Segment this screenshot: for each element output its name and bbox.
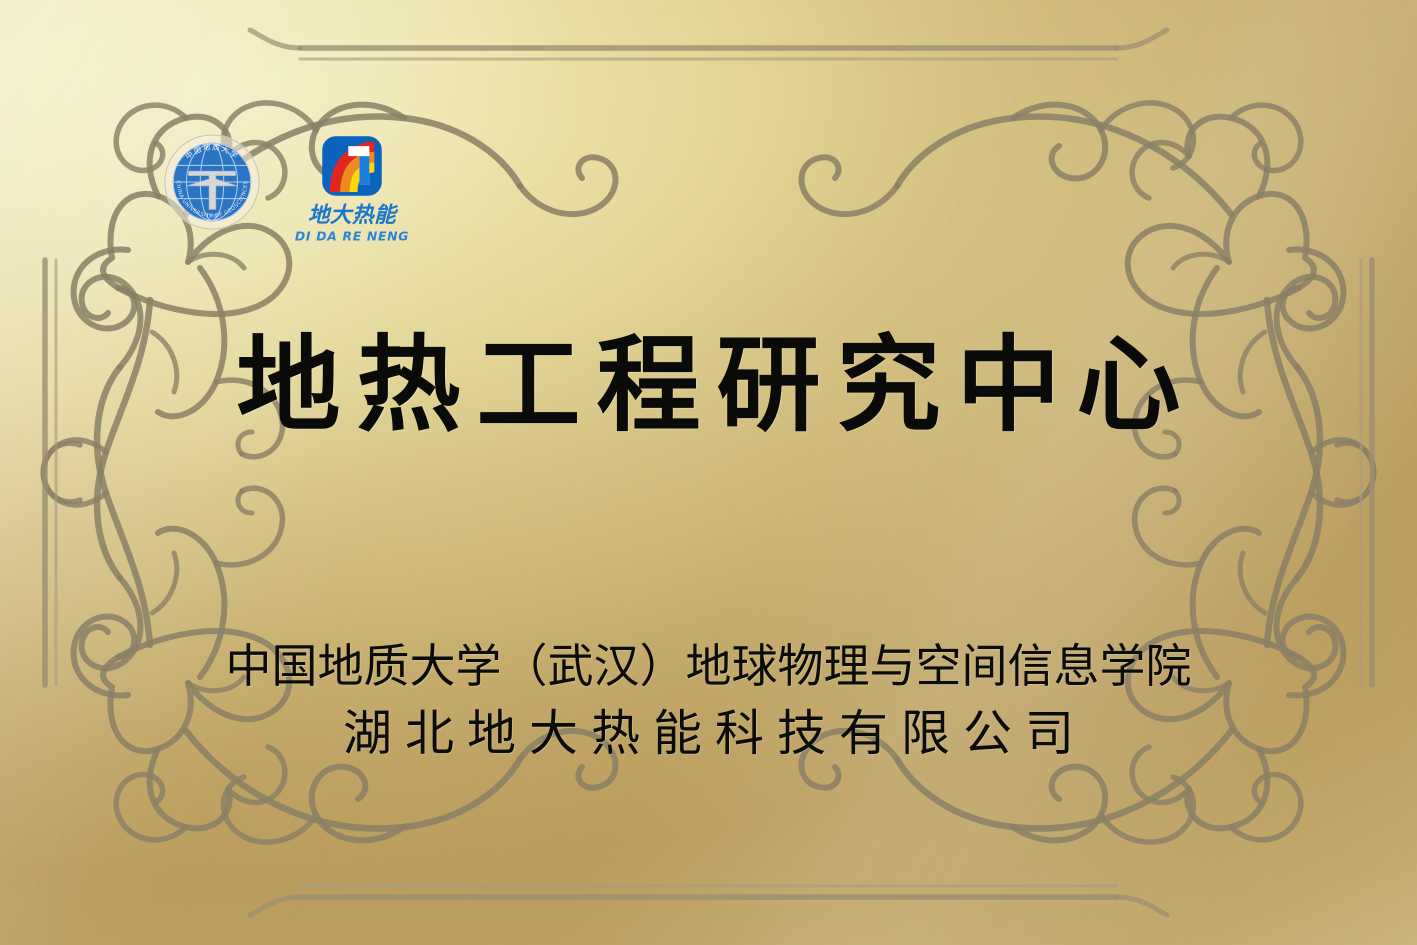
logo-group: 中国地质大学 CHINA UNIVERSITY OF GEOSCIENCES 1… — [163, 133, 421, 246]
subtitle-line-university: 中国地质大学（武汉）地球物理与空间信息学院 — [0, 638, 1417, 694]
didareneng-wordmark: 地大热能 DI DA RE NENG — [283, 198, 421, 246]
didareneng-mark-icon — [321, 135, 383, 197]
svg-text:1952: 1952 — [206, 213, 218, 219]
didareneng-logo: 地大热能 DI DA RE NENG — [283, 135, 421, 246]
subtitle-line-company: 湖北地大热能科技有限公司 — [0, 702, 1417, 766]
page-title: 地热工程研究中心 — [0, 330, 1417, 440]
subtitle-block: 中国地质大学（武汉）地球物理与空间信息学院 湖北地大热能科技有限公司 — [0, 638, 1417, 766]
award-plaque: 中国地质大学 CHINA UNIVERSITY OF GEOSCIENCES 1… — [0, 0, 1417, 945]
didareneng-wordmark-pinyin: DI DA RE NENG — [295, 228, 409, 243]
china-university-of-geosciences-seal-icon: 中国地质大学 CHINA UNIVERSITY OF GEOSCIENCES 1… — [163, 133, 261, 231]
didareneng-wordmark-cn: 地大热能 — [308, 203, 399, 228]
